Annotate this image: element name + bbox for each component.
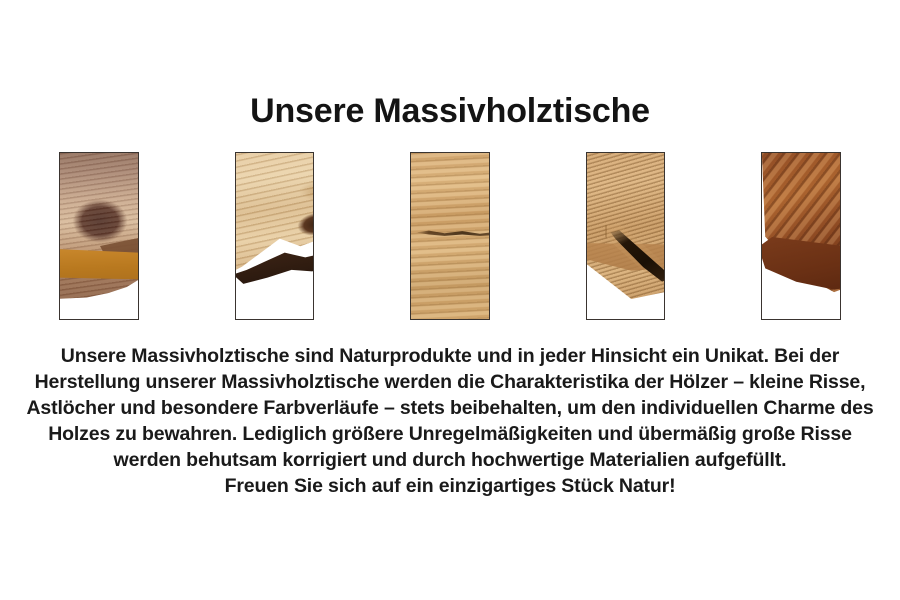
gallery-image-4[interactable]: [586, 152, 666, 320]
wood-photo-walnut-corner: [60, 153, 138, 319]
product-info-page: Unsere Massivholztische: [0, 0, 900, 600]
wood-photo-grain-knot: [411, 153, 489, 319]
body-copy: Unsere Massivholztische sind Naturproduk…: [14, 343, 886, 499]
description-line-4: Holzes zu bewahren. Lediglich größere Un…: [14, 421, 886, 447]
description-line-2: Herstellung unserer Massivholztische wer…: [14, 369, 886, 395]
description-paragraph: Unsere Massivholztische sind Naturproduk…: [14, 343, 886, 499]
page-title: Unsere Massivholztische: [0, 91, 900, 131]
wood-photo-sawn-crack: [587, 153, 665, 319]
gallery-image-1[interactable]: [59, 152, 139, 320]
image-gallery: [19, 136, 881, 304]
description-line-5: werden behutsam korrigiert und durch hoc…: [14, 447, 886, 473]
wood-photo-sheesham-corner: [762, 153, 840, 319]
gallery-image-3[interactable]: [410, 152, 490, 320]
closing-line: Freuen Sie sich auf ein einzigartiges St…: [14, 473, 886, 499]
gallery-image-5[interactable]: [761, 152, 841, 320]
description-line-1: Unsere Massivholztische sind Naturproduk…: [14, 343, 886, 369]
wood-photo-live-edge: [236, 153, 314, 319]
description-line-3: Astlöcher und besondere Farbverläufe – s…: [14, 395, 886, 421]
gallery-image-2[interactable]: [235, 152, 315, 320]
